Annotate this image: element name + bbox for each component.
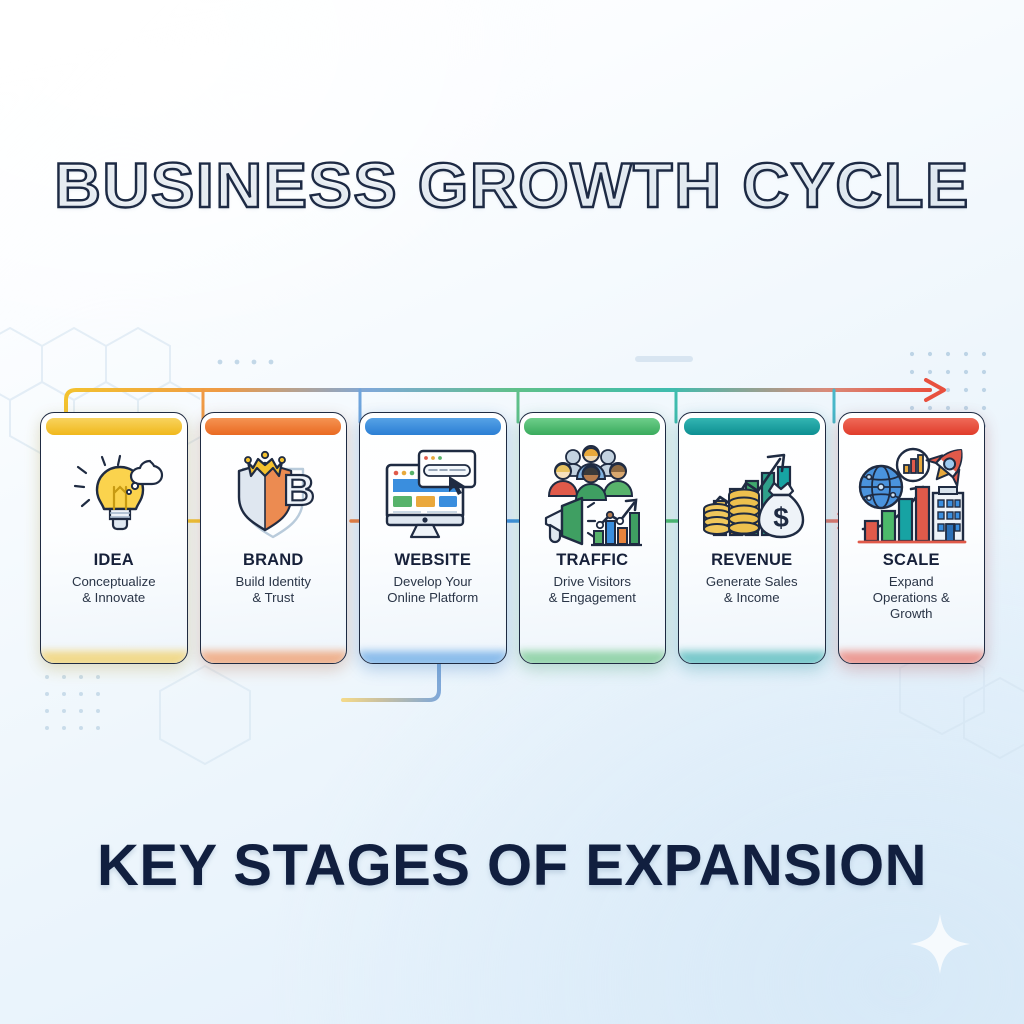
card-title-scale: SCALE <box>883 551 940 569</box>
card-desc-line2: Online Platform <box>387 590 478 605</box>
lightbulb-idea-icon <box>55 441 173 549</box>
card-desc-line1: Conceptualize <box>72 574 156 589</box>
card-desc-line3: Growth <box>890 606 933 621</box>
card-accent-bar-revenue <box>684 418 820 435</box>
audience-megaphone-chart-icon <box>533 441 651 549</box>
card-desc-line1: Expand <box>889 574 934 589</box>
card-title-brand: BRAND <box>243 551 304 569</box>
card-desc-line1: Drive Visitors <box>554 574 631 589</box>
svg-text:B: B <box>283 466 315 515</box>
stage-card-list: IDEA Conceptualize & Innovate B <box>40 412 985 662</box>
stage-card-website[interactable]: WEBSITE Develop Your Online Platform <box>359 412 507 664</box>
card-desc-line1: Generate Sales <box>706 574 798 589</box>
svg-text:$: $ <box>773 502 789 533</box>
sparkle-star-icon <box>908 912 972 976</box>
page-subtitle: KEY STAGES OF EXPANSION <box>0 832 1024 899</box>
page-title: BUSINESS GROWTH CYCLE <box>0 150 1024 222</box>
stage-card-revenue[interactable]: $ REVENUE Generate Sales & Income <box>678 412 826 664</box>
card-desc-line2: & Trust <box>252 590 294 605</box>
card-desc-brand: Build Identity & Trust <box>228 574 318 606</box>
stage-card-idea[interactable]: IDEA Conceptualize & Innovate <box>40 412 188 664</box>
card-desc-website: Develop Your Online Platform <box>380 574 485 606</box>
card-desc-line2: & Innovate <box>82 590 145 605</box>
card-title-revenue: REVENUE <box>711 551 792 569</box>
dot-grid-pattern <box>42 672 112 742</box>
shield-crown-brand-icon: B <box>214 441 332 549</box>
card-desc-traffic: Drive Visitors & Engagement <box>542 574 643 606</box>
card-title-traffic: TRAFFIC <box>556 551 628 569</box>
card-desc-line2: & Income <box>724 590 780 605</box>
card-desc-line2: & Engagement <box>549 590 636 605</box>
stage-card-traffic[interactable]: TRAFFIC Drive Visitors & Engagement <box>519 412 667 664</box>
globe-rocket-building-icon <box>852 441 970 549</box>
desktop-monitor-website-icon <box>374 441 492 549</box>
card-accent-bar-idea <box>46 418 182 435</box>
card-desc-idea: Conceptualize & Innovate <box>65 574 163 606</box>
card-title-website: WEBSITE <box>394 551 471 569</box>
card-desc-revenue: Generate Sales & Income <box>699 574 805 606</box>
card-accent-bar-scale <box>843 418 979 435</box>
dash-line <box>635 356 693 362</box>
coins-moneybag-growth-icon: $ <box>693 441 811 549</box>
card-title-idea: IDEA <box>94 551 134 569</box>
card-desc-line2: Operations & <box>873 590 950 605</box>
card-accent-bar-brand <box>205 418 341 435</box>
hexagon-outline-pattern <box>150 660 260 770</box>
stage-card-brand[interactable]: B BRAND Build Identity & Trust <box>200 412 348 664</box>
card-desc-scale: Expand Operations & Growth <box>866 574 957 622</box>
dot-grid-pattern <box>215 355 275 369</box>
infographic-canvas: BUSINESS GROWTH CYCLE <box>0 0 1024 1024</box>
card-desc-line1: Build Identity <box>235 574 311 589</box>
card-desc-line1: Develop Your <box>394 574 472 589</box>
card-accent-bar-website <box>365 418 501 435</box>
card-accent-bar-traffic <box>524 418 660 435</box>
stage-card-scale[interactable]: SCALE Expand Operations & Growth <box>838 412 986 664</box>
